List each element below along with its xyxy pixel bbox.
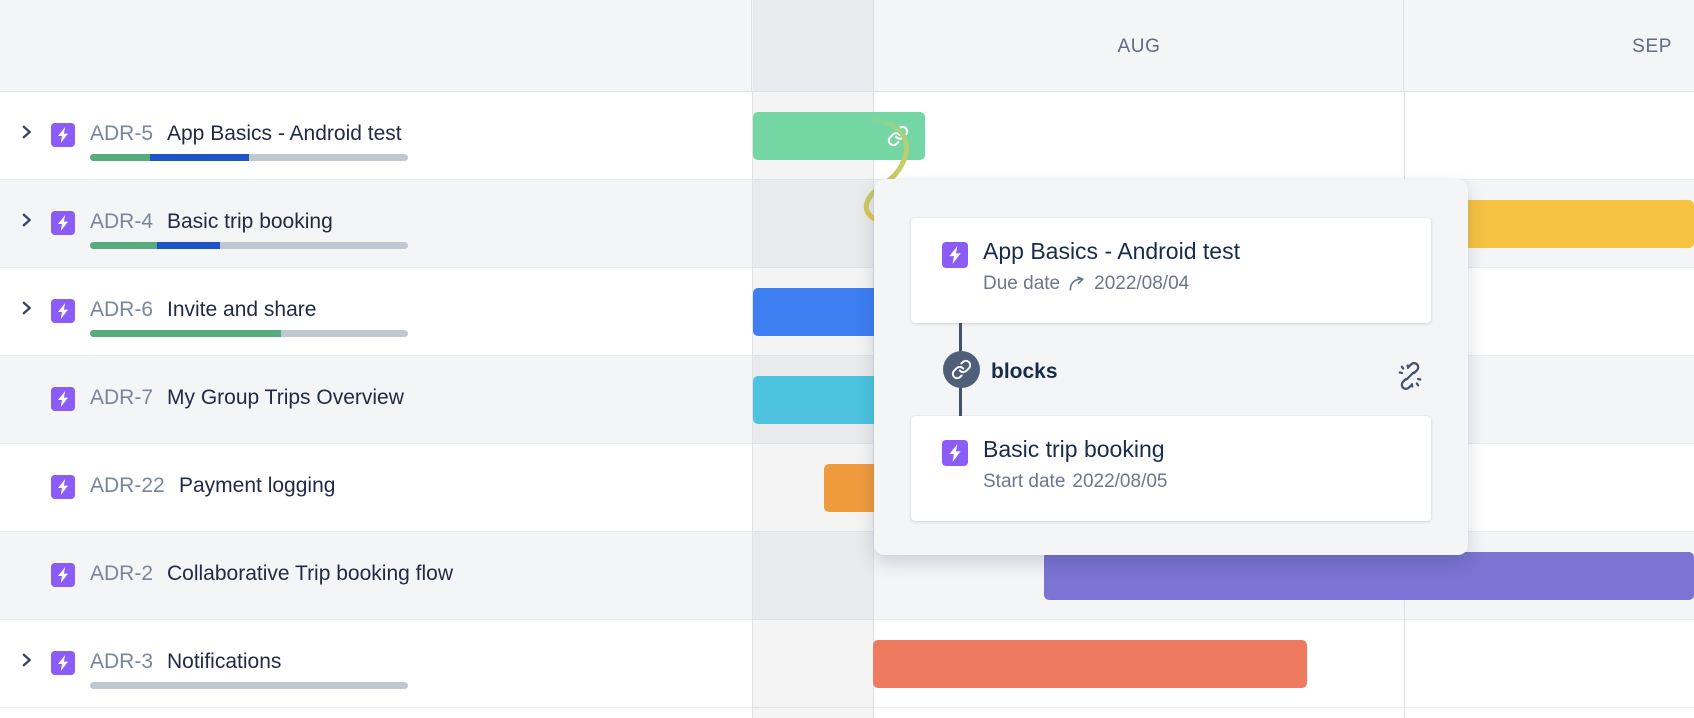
gantt-timeline-view: AUG SEP <box>0 0 1694 718</box>
task-row-adr-3[interactable]: ADR-3 Notifications <box>0 620 752 708</box>
task-title[interactable]: Invite and share <box>167 298 316 322</box>
source-due-date-value: 2022/08/04 <box>1094 273 1189 295</box>
task-row-adr-6[interactable]: ADR-6 Invite and share <box>0 268 752 356</box>
chevron-right-icon[interactable] <box>17 651 35 669</box>
progress-bar <box>90 330 408 337</box>
timeline-header-today-band <box>753 0 874 91</box>
dependency-target-card[interactable]: Basic trip booking Start date 2022/08/05 <box>911 416 1431 521</box>
epic-icon <box>51 123 75 147</box>
gantt-bar-adr-2[interactable] <box>1044 552 1694 600</box>
target-start-date: Start date 2022/08/05 <box>983 471 1167 493</box>
task-key[interactable]: ADR-22 <box>90 474 165 498</box>
task-key[interactable]: ADR-7 <box>90 386 153 410</box>
epic-icon <box>51 211 75 235</box>
arrow-forward-icon <box>1067 274 1087 294</box>
epic-icon <box>51 651 75 675</box>
epic-icon <box>942 440 968 466</box>
source-issue-title: App Basics - Android test <box>983 238 1240 265</box>
epic-icon <box>51 299 75 323</box>
progress-bar <box>90 682 408 689</box>
source-due-date-label: Due date <box>983 273 1060 295</box>
chevron-right-icon[interactable] <box>17 123 35 141</box>
progress-segment <box>90 330 281 337</box>
task-key[interactable]: ADR-6 <box>90 298 153 322</box>
task-key[interactable]: ADR-3 <box>90 650 153 674</box>
epic-icon <box>942 242 968 268</box>
month-label-august: AUG <box>874 36 1404 58</box>
link-icon[interactable] <box>887 125 909 147</box>
dependency-source-card[interactable]: App Basics - Android test Due date 2022/… <box>911 218 1431 323</box>
epic-icon <box>51 387 75 411</box>
task-title[interactable]: My Group Trips Overview <box>167 386 404 410</box>
epic-icon <box>51 563 75 587</box>
timeline-header: AUG SEP <box>0 0 1694 92</box>
target-start-date-value: 2022/08/05 <box>1072 471 1167 493</box>
task-title[interactable]: Notifications <box>167 650 281 674</box>
task-title[interactable]: Payment logging <box>179 474 335 498</box>
chevron-right-icon[interactable] <box>17 211 35 229</box>
task-list-panel: ADR-5 App Basics - Android test ADR-4 Ba… <box>0 92 752 718</box>
progress-segment <box>157 242 221 249</box>
chevron-right-icon[interactable] <box>17 299 35 317</box>
task-key[interactable]: ADR-4 <box>90 210 153 234</box>
progress-segment <box>90 154 150 161</box>
task-title[interactable]: Basic trip booking <box>167 210 333 234</box>
task-row-adr-7[interactable]: ADR-7 My Group Trips Overview <box>0 356 752 444</box>
task-row-adr-5[interactable]: ADR-5 App Basics - Android test <box>0 92 752 180</box>
task-key[interactable]: ADR-2 <box>90 562 153 586</box>
task-key[interactable]: ADR-5 <box>90 122 153 146</box>
progress-bar <box>90 154 408 161</box>
timeline-header-left-column <box>0 0 752 91</box>
target-issue-title: Basic trip booking <box>983 436 1165 463</box>
target-start-date-label: Start date <box>983 471 1065 493</box>
progress-segment <box>90 242 157 249</box>
relationship-label: blocks <box>991 360 1058 384</box>
unlink-icon[interactable] <box>1392 358 1428 394</box>
link-icon <box>943 351 980 388</box>
dependency-popup: App Basics - Android test Due date 2022/… <box>874 179 1468 555</box>
task-row-adr-4[interactable]: ADR-4 Basic trip booking <box>0 180 752 268</box>
task-title[interactable]: App Basics - Android test <box>167 122 402 146</box>
gantt-bar-adr-4[interactable] <box>1445 200 1694 248</box>
source-due-date: Due date 2022/08/04 <box>983 273 1189 295</box>
progress-segment <box>150 154 249 161</box>
epic-icon <box>51 475 75 499</box>
progress-bar <box>90 242 408 249</box>
month-label-september: SEP <box>1405 36 1694 58</box>
task-title[interactable]: Collaborative Trip booking flow <box>167 562 453 586</box>
task-row-adr-22[interactable]: ADR-22 Payment logging <box>0 444 752 532</box>
task-row-adr-2[interactable]: ADR-2 Collaborative Trip booking flow <box>0 532 752 620</box>
gantt-bar-adr-5[interactable] <box>753 112 925 160</box>
gantt-bar-adr-3[interactable] <box>873 640 1307 688</box>
